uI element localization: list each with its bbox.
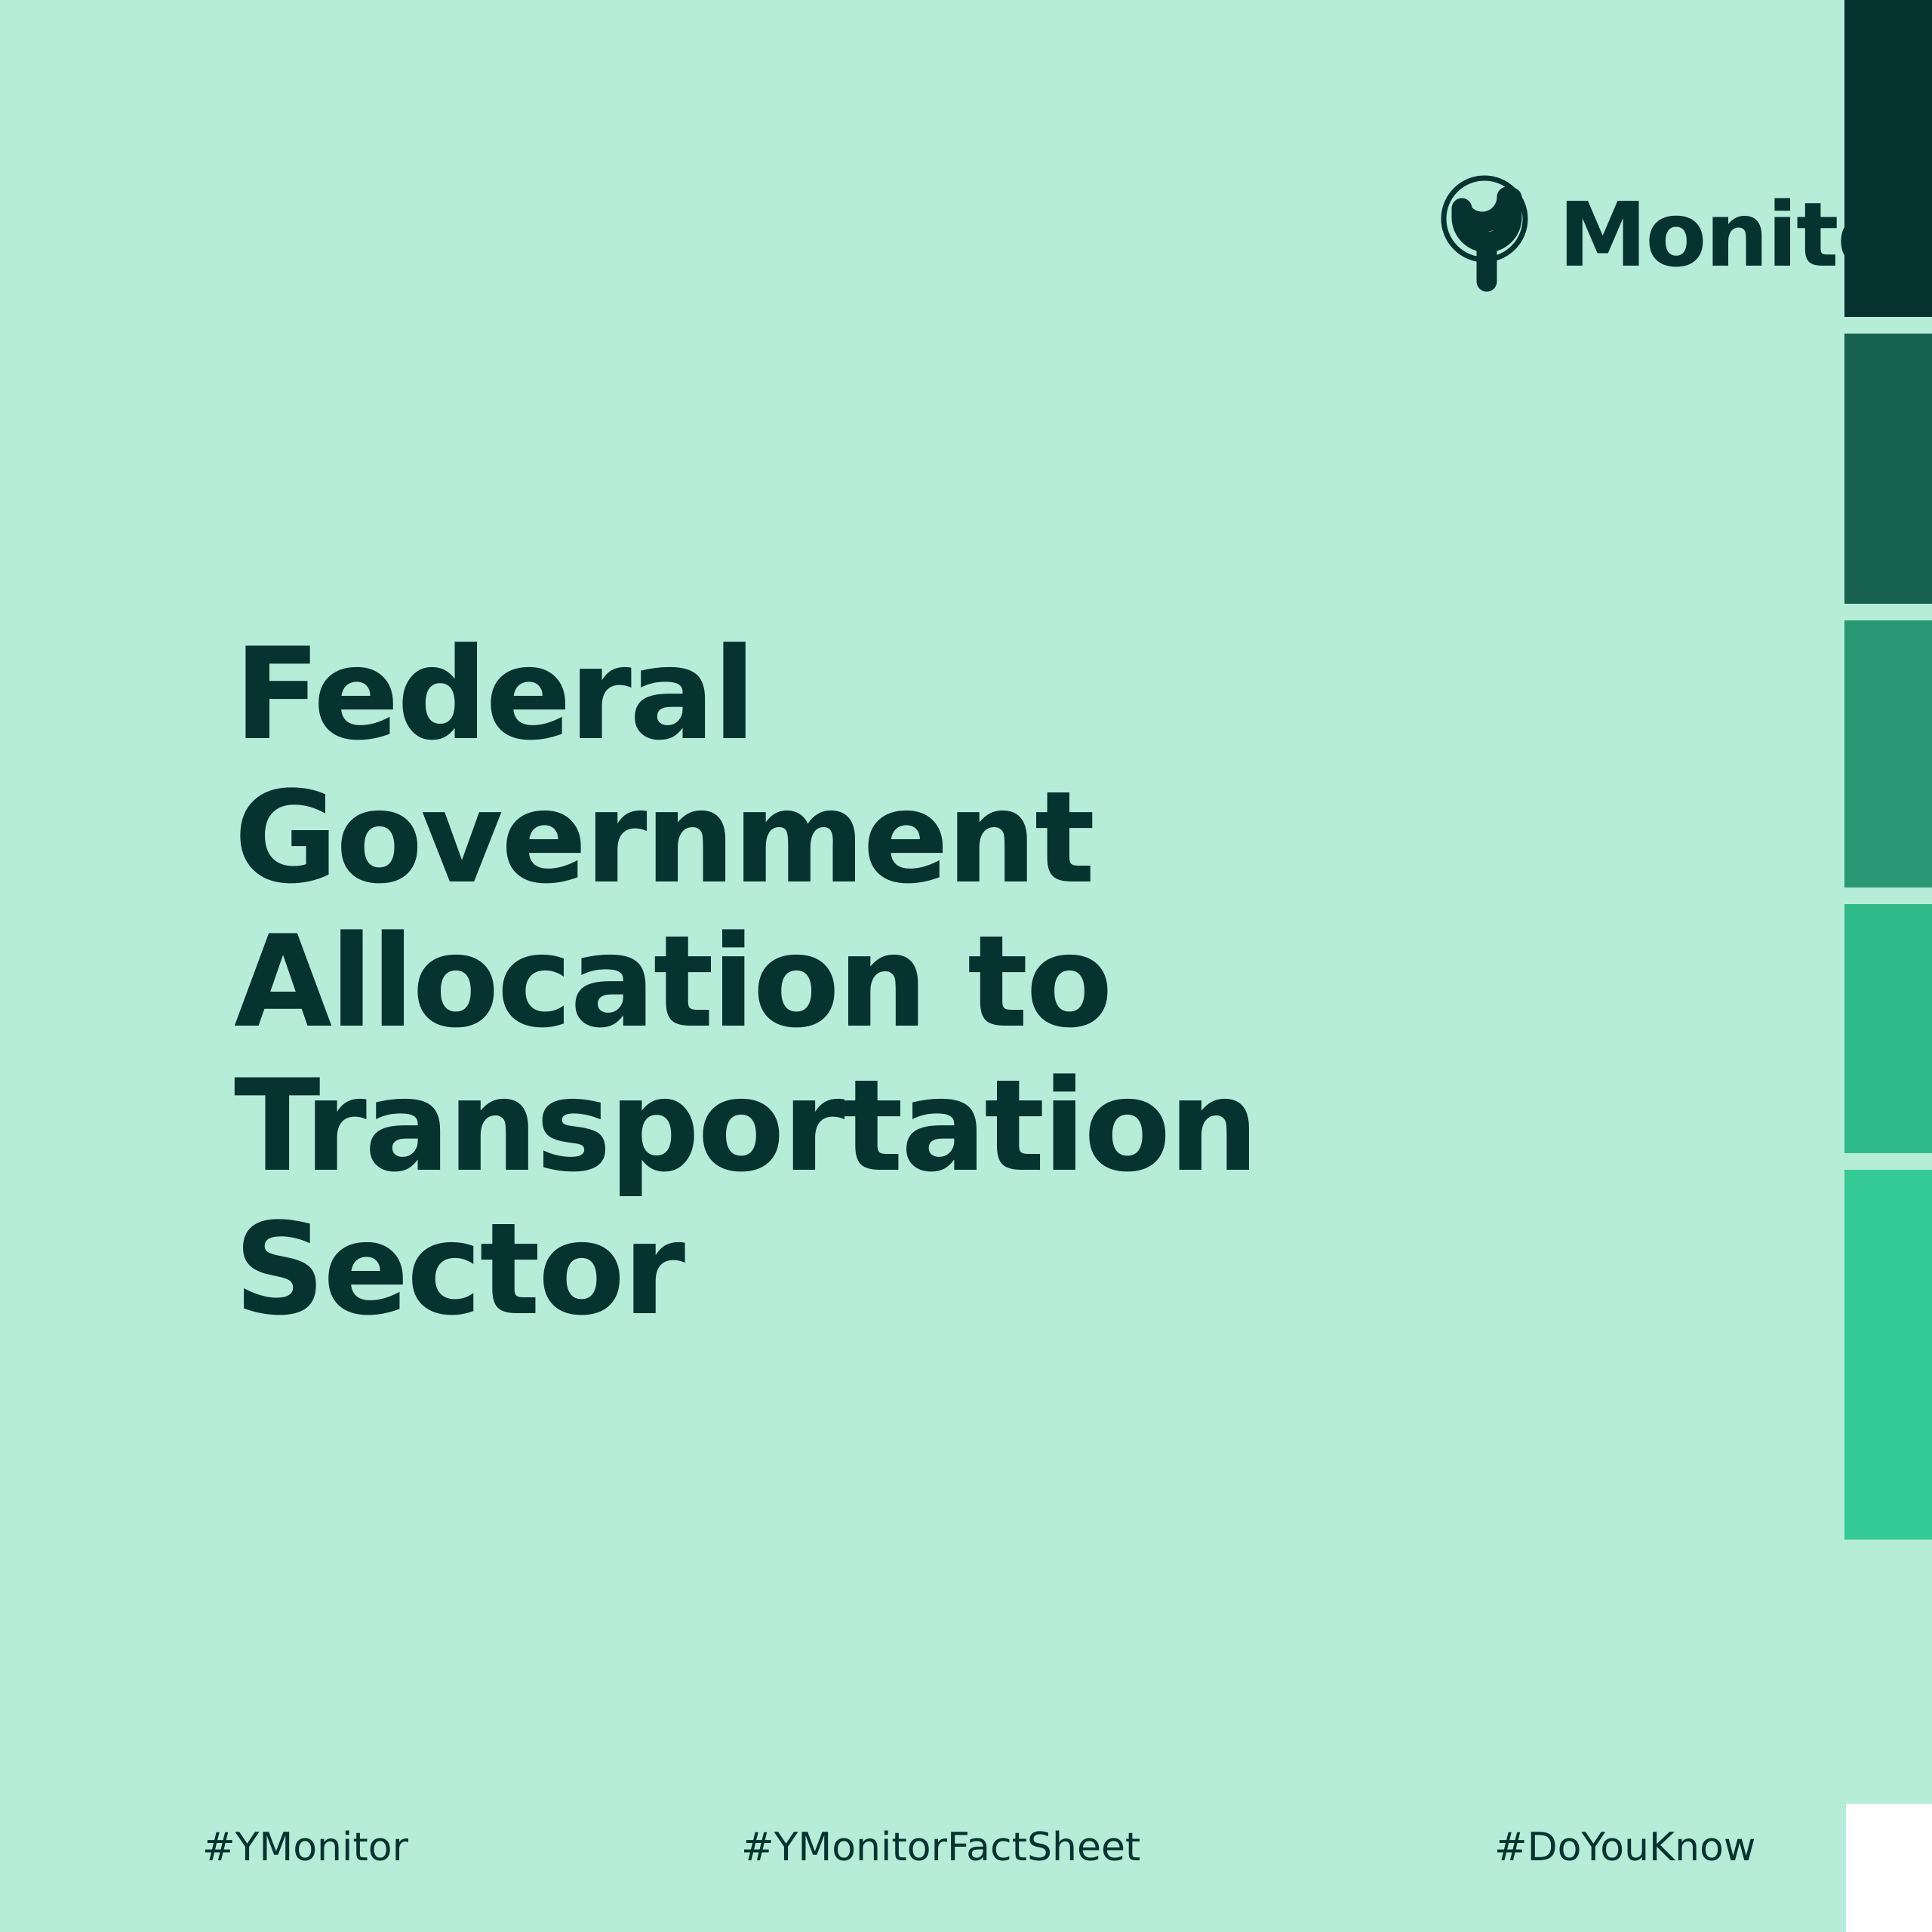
poster-canvas: Monitor Federal Government Allocation to… (0, 0, 1932, 1932)
stripe-4 (1844, 904, 1932, 1153)
stripe-5 (1844, 1170, 1932, 1540)
stripe-6 (1844, 1556, 1932, 1804)
brand-logo[interactable]: Monitor (1438, 172, 1932, 297)
ymonitor-magnifier-icon (1438, 172, 1536, 297)
footer-hashtags: #YMonitor #YMonitorFactSheet #DoYouKnow (0, 1802, 1811, 1893)
white-footer-block (1846, 1804, 1932, 1932)
stripe-2 (1844, 334, 1932, 604)
hashtag-ymonitorfactsheet[interactable]: #YMonitorFactSheet (741, 1825, 1140, 1870)
page-title: Federal Government Allocation to Transpo… (234, 623, 1713, 1342)
hashtag-doyouknow[interactable]: #DoYouKnow (1494, 1825, 1755, 1870)
brand-name: Monitor (1558, 190, 1932, 279)
hashtag-ymonitor[interactable]: #YMonitor (202, 1825, 408, 1870)
stripe-3 (1844, 620, 1932, 888)
